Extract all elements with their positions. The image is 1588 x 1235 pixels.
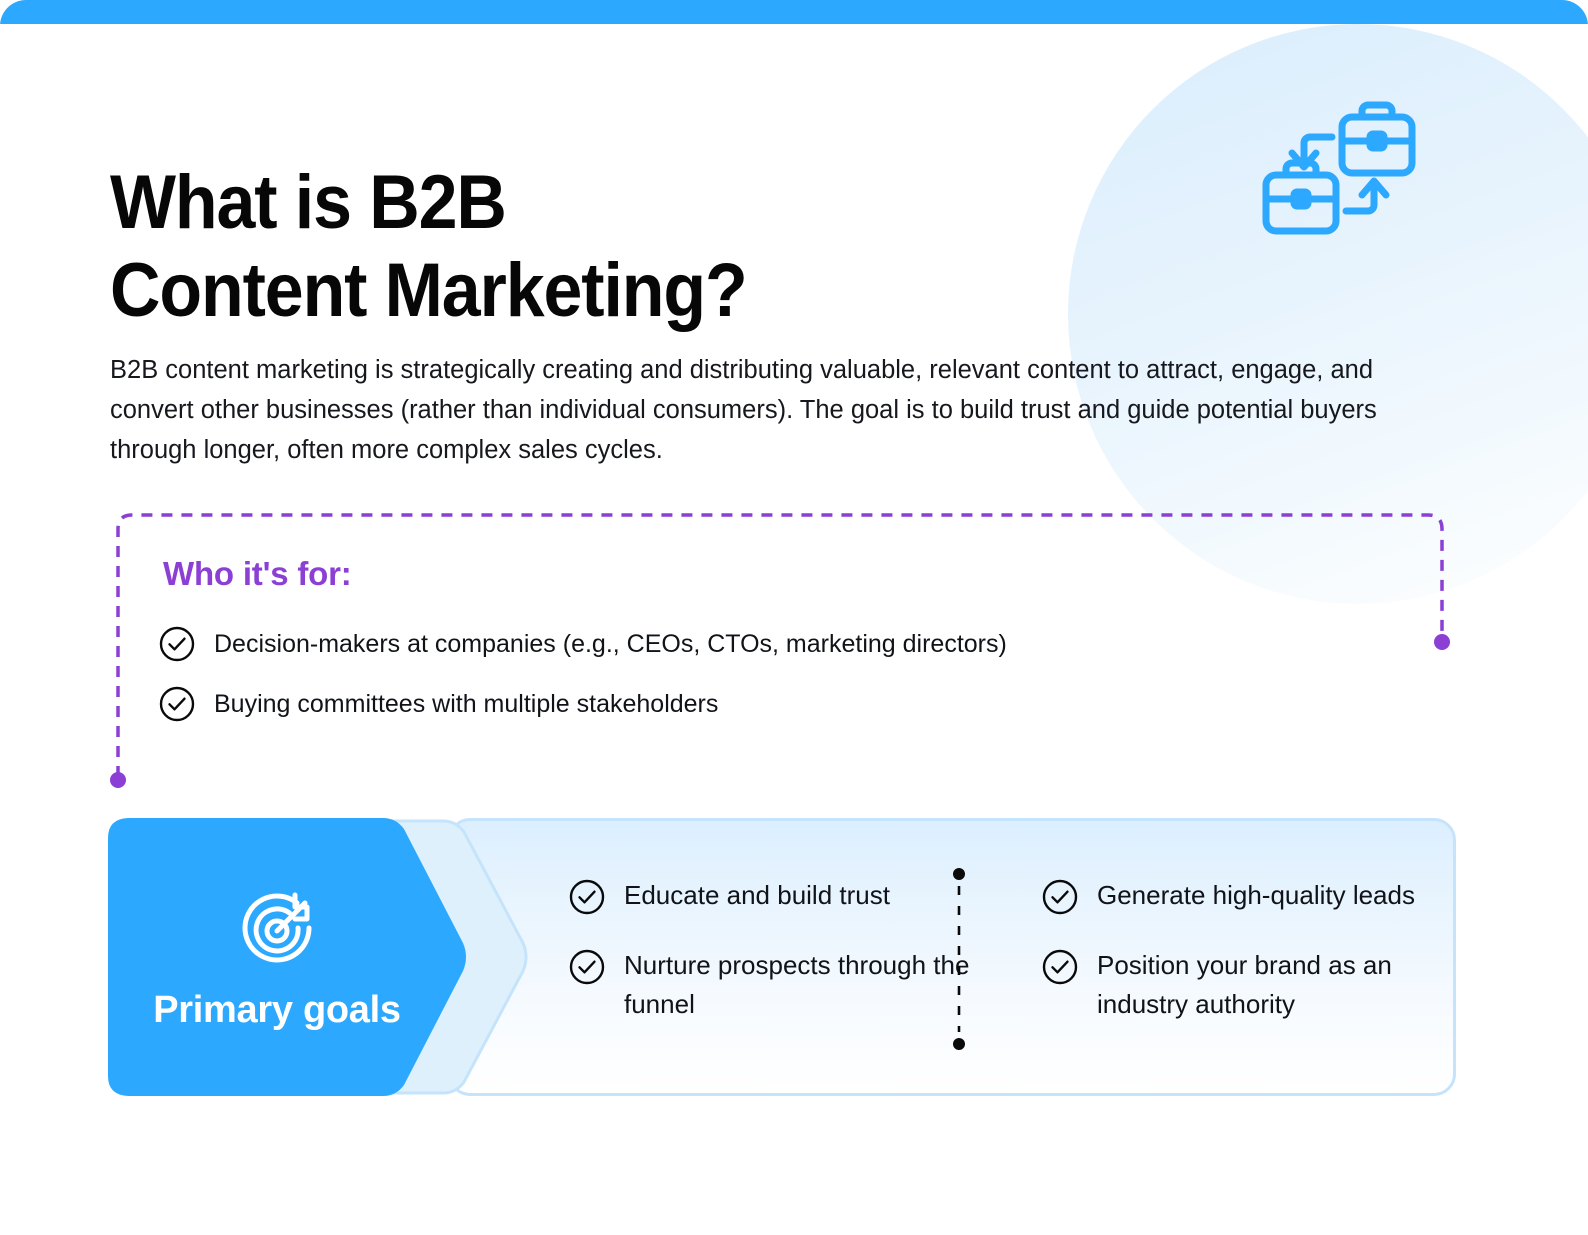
list-item-label: Educate and build trust: [624, 876, 890, 915]
check-circle-icon: [158, 685, 196, 723]
top-accent-bar: [0, 0, 1588, 24]
briefcase-exchange-icon: [1258, 95, 1418, 255]
list-item-label: Nurture prospects through the funnel: [624, 946, 983, 1024]
page-title-line-2: Content Marketing?: [110, 247, 747, 335]
page-title-line-1: What is B2B: [110, 160, 506, 245]
list-item: Educate and build trust: [568, 876, 983, 916]
primary-goals-label: Primary goals: [153, 989, 400, 1032]
list-item: Position your brand as an industry autho…: [1041, 946, 1456, 1024]
who-its-for-block: Who it's for: Decision-makers at compani…: [108, 505, 1452, 790]
infographic-card: What is B2B Content Marketing? B2B conte…: [0, 0, 1588, 1235]
dash-end-dot-left: [110, 772, 126, 788]
chevron-content: Primary goals: [108, 818, 446, 1096]
check-circle-icon: [568, 878, 606, 916]
check-circle-icon: [1041, 948, 1079, 986]
page-title: What is B2B Content Marketing?: [110, 159, 747, 335]
list-item-label: Generate high-quality leads: [1097, 876, 1415, 915]
list-item: Nurture prospects through the funnel: [568, 946, 983, 1024]
divider-dot-top: [953, 868, 965, 880]
goals-grid: Educate and build trust Nurture prospect…: [568, 876, 1456, 1066]
target-arrow-icon: [231, 883, 323, 975]
check-circle-icon: [158, 625, 196, 663]
list-item: Buying committees with multiple stakehol…: [158, 685, 1408, 723]
primary-goals-section: Primary goals Educate and build trust N: [108, 818, 1456, 1096]
dash-end-dot-right: [1434, 634, 1450, 650]
list-item-label: Buying committees with multiple stakehol…: [214, 687, 718, 721]
list-item: Generate high-quality leads: [1041, 876, 1456, 916]
who-its-for-title: Who it's for:: [163, 555, 352, 593]
list-item-label: Position your brand as an industry autho…: [1097, 946, 1456, 1024]
who-its-for-list: Decision-makers at companies (e.g., CEOs…: [158, 625, 1408, 745]
divider-dot-bottom: [953, 1038, 965, 1050]
goals-column-left: Educate and build trust Nurture prospect…: [568, 876, 983, 1066]
check-circle-icon: [1041, 878, 1079, 916]
check-circle-icon: [568, 948, 606, 986]
list-item: Decision-makers at companies (e.g., CEOs…: [158, 625, 1408, 663]
goals-column-right: Generate high-quality leads Position you…: [1041, 876, 1456, 1066]
list-item-label: Decision-makers at companies (e.g., CEOs…: [214, 627, 1007, 661]
column-divider: [953, 868, 965, 1050]
intro-paragraph: B2B content marketing is strategically c…: [110, 350, 1455, 470]
